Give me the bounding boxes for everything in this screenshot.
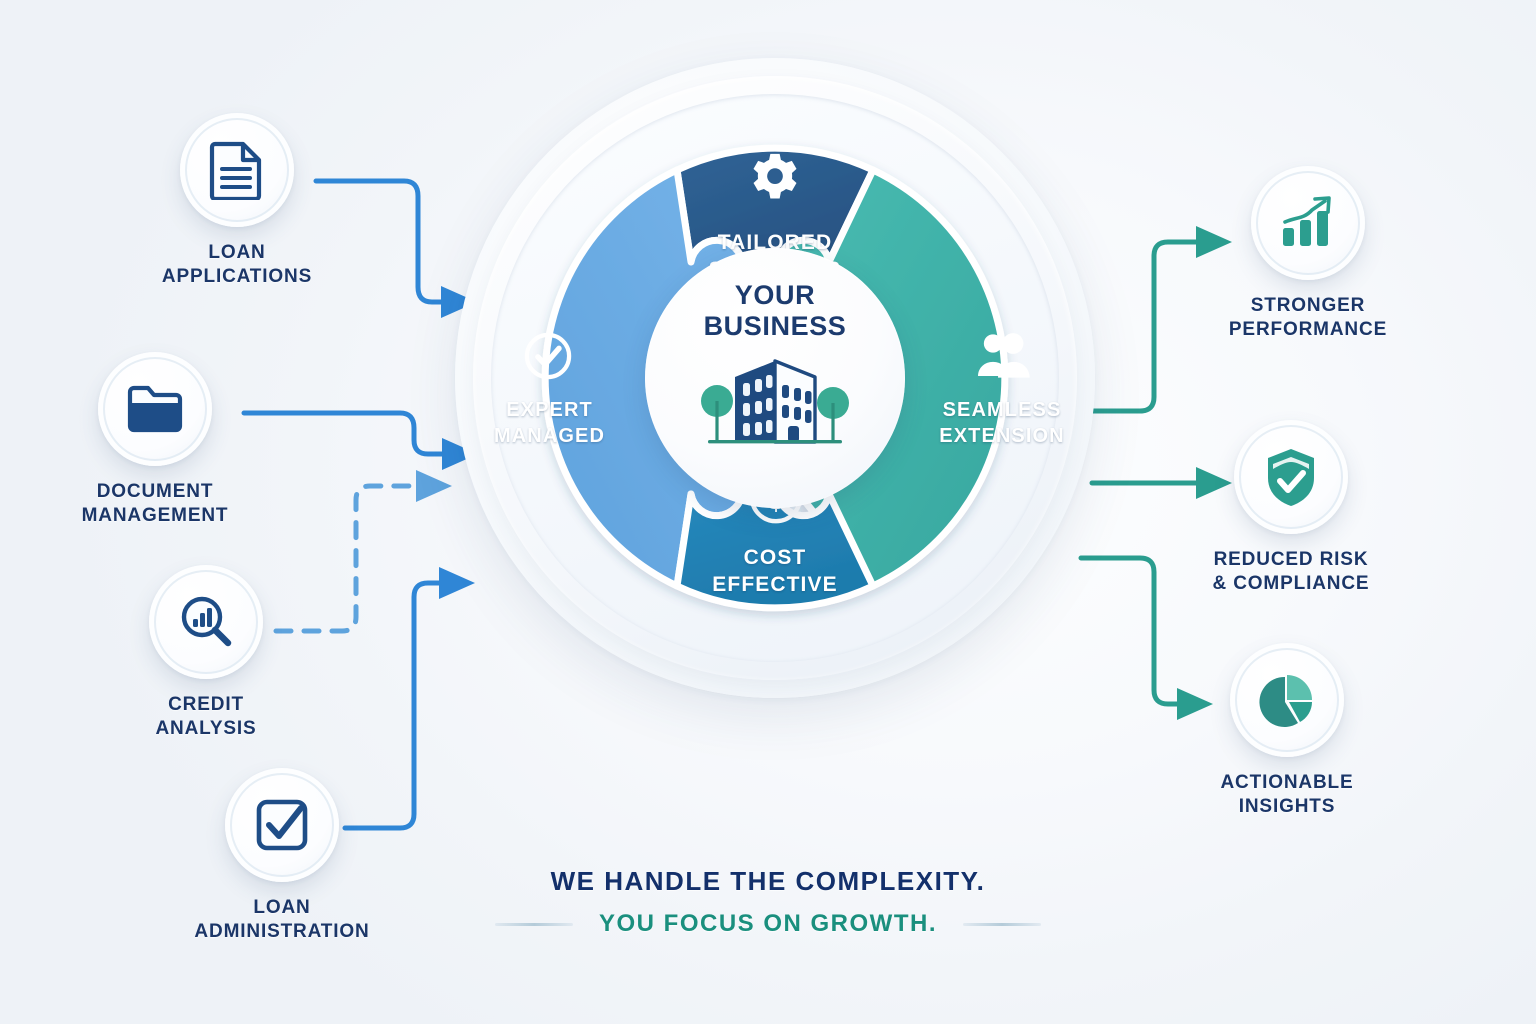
infographic-canvas: $ TAILORED SOLUTIONS EXPERT MANAGED SEAM… (0, 0, 1536, 1024)
tagline-secondary-row: YOU FOCUS ON GROWTH. (0, 910, 1536, 938)
node-label: ACTIONABLE INSIGHTS (1192, 771, 1382, 820)
growth-bar-chart-icon (1278, 195, 1338, 251)
node-label: DOCUMENT MANAGEMENT (60, 480, 250, 529)
connector-stronger-performance (1092, 242, 1222, 411)
node-bubble[interactable] (180, 113, 294, 227)
connector-document-management (244, 413, 468, 454)
office-building-icon (700, 347, 850, 455)
node-bubble[interactable] (149, 565, 263, 679)
label-line-1: CREDIT (111, 693, 301, 717)
puzzle-wheel: $ TAILORED SOLUTIONS EXPERT MANAGED SEAM… (455, 58, 1095, 698)
center-title: YOUR BUSINESS (704, 280, 847, 343)
label-line-1: REDUCED RISK (1196, 548, 1386, 572)
center-title-line-2: BUSINESS (704, 311, 847, 342)
label-line-1: DOCUMENT (60, 480, 250, 504)
node-label: LOAN APPLICATIONS (142, 241, 332, 290)
tagline-block: WE HANDLE THE COMPLEXITY. YOU FOCUS ON G… (0, 866, 1536, 938)
output-node-stronger-performance[interactable]: STRONGER PERFORMANCE (1213, 166, 1403, 343)
label-line-1: ACTIONABLE (1192, 771, 1382, 795)
magnifier-chart-icon (177, 593, 235, 651)
label-line-2: INSIGHTS (1192, 795, 1382, 819)
tagline-secondary: YOU FOCUS ON GROWTH. (599, 910, 937, 938)
tagline-primary: WE HANDLE THE COMPLEXITY. (0, 866, 1536, 897)
input-node-document-management[interactable]: DOCUMENT MANAGEMENT (60, 352, 250, 529)
output-node-reduced-risk-compliance[interactable]: REDUCED RISK & COMPLIANCE (1196, 420, 1386, 597)
pie-chart-icon (1258, 671, 1316, 729)
node-label: STRONGER PERFORMANCE (1213, 294, 1403, 343)
folder-icon (126, 384, 184, 434)
label-line-1: STRONGER (1213, 294, 1403, 318)
check-circle-icon (521, 329, 575, 383)
node-bubble[interactable] (1251, 166, 1365, 280)
node-label: REDUCED RISK & COMPLIANCE (1196, 548, 1386, 597)
checkbox-icon (254, 797, 310, 853)
label-line-2: ANALYSIS (111, 717, 301, 741)
node-bubble[interactable] (1234, 420, 1348, 534)
node-label: CREDIT ANALYSIS (111, 693, 301, 742)
label-line-2: MANAGEMENT (60, 504, 250, 528)
center-title-line-1: YOUR (704, 280, 847, 311)
label-line-2: PERFORMANCE (1213, 318, 1403, 342)
label-line-1: LOAN (142, 241, 332, 265)
connector-loan-applications (316, 181, 467, 302)
node-bubble[interactable] (1230, 643, 1344, 757)
gear-icon (744, 150, 806, 212)
document-icon (209, 140, 265, 200)
connector-actionable-insights (1081, 558, 1203, 704)
node-bubble[interactable] (225, 768, 339, 882)
input-node-credit-analysis[interactable]: CREDIT ANALYSIS (111, 565, 301, 742)
input-node-loan-applications[interactable]: LOAN APPLICATIONS (142, 113, 332, 290)
shield-check-icon (1264, 446, 1318, 508)
center-business-disc: YOUR BUSINESS (645, 248, 905, 508)
decorative-rule-right (963, 923, 1041, 926)
label-line-2: & COMPLIANCE (1196, 572, 1386, 596)
decorative-rule-left (495, 923, 573, 926)
people-group-icon (973, 330, 1033, 382)
label-line-2: APPLICATIONS (142, 265, 332, 289)
node-bubble[interactable] (98, 352, 212, 466)
output-node-actionable-insights[interactable]: ACTIONABLE INSIGHTS (1192, 643, 1382, 820)
